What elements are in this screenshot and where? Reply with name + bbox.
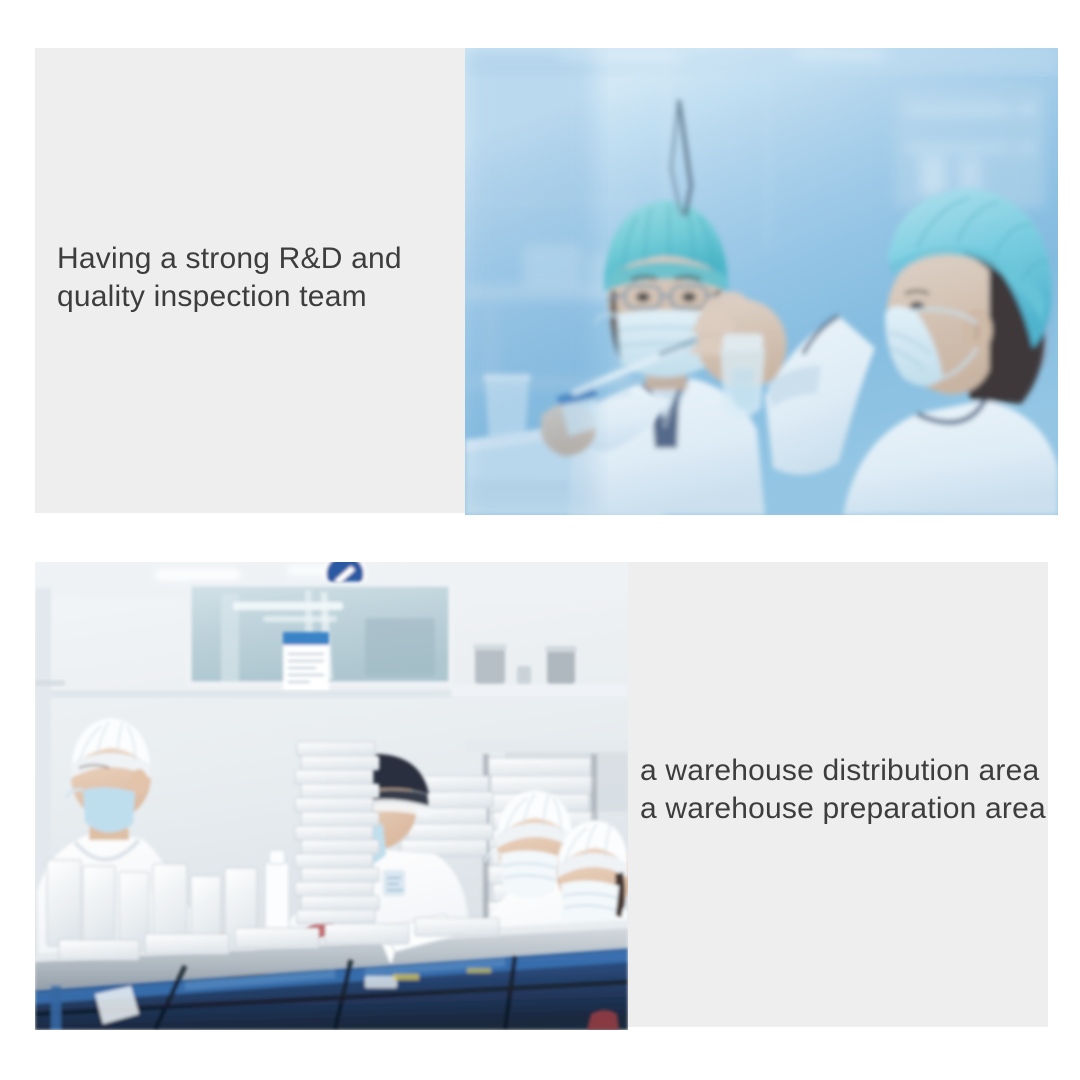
top-text-panel: Having a strong R&D and quality inspecti… <box>35 48 465 513</box>
lab-inspection-illustration <box>465 48 1058 515</box>
bottom-text-panel: a warehouse distribution area a warehous… <box>628 562 1048 1027</box>
bottom-caption: a warehouse distribution area a warehous… <box>640 752 1050 828</box>
section-rd-quality: Having a strong R&D and quality inspecti… <box>35 48 1058 515</box>
bottom-caption-line-2: a warehouse preparation area <box>640 790 1050 828</box>
lab-inspection-photo <box>465 48 1058 515</box>
warehouse-packing-illustration <box>35 562 628 1030</box>
bottom-caption-line-1: a warehouse distribution area <box>640 752 1050 790</box>
top-caption-line-2: quality inspection team <box>57 278 457 316</box>
section-warehouse: a warehouse distribution area a warehous… <box>35 562 1048 1030</box>
warehouse-packing-photo <box>35 562 628 1030</box>
poster-canvas: Having a strong R&D and quality inspecti… <box>0 0 1080 1080</box>
top-caption: Having a strong R&D and quality inspecti… <box>57 240 457 316</box>
top-caption-line-1: Having a strong R&D and <box>57 240 457 278</box>
